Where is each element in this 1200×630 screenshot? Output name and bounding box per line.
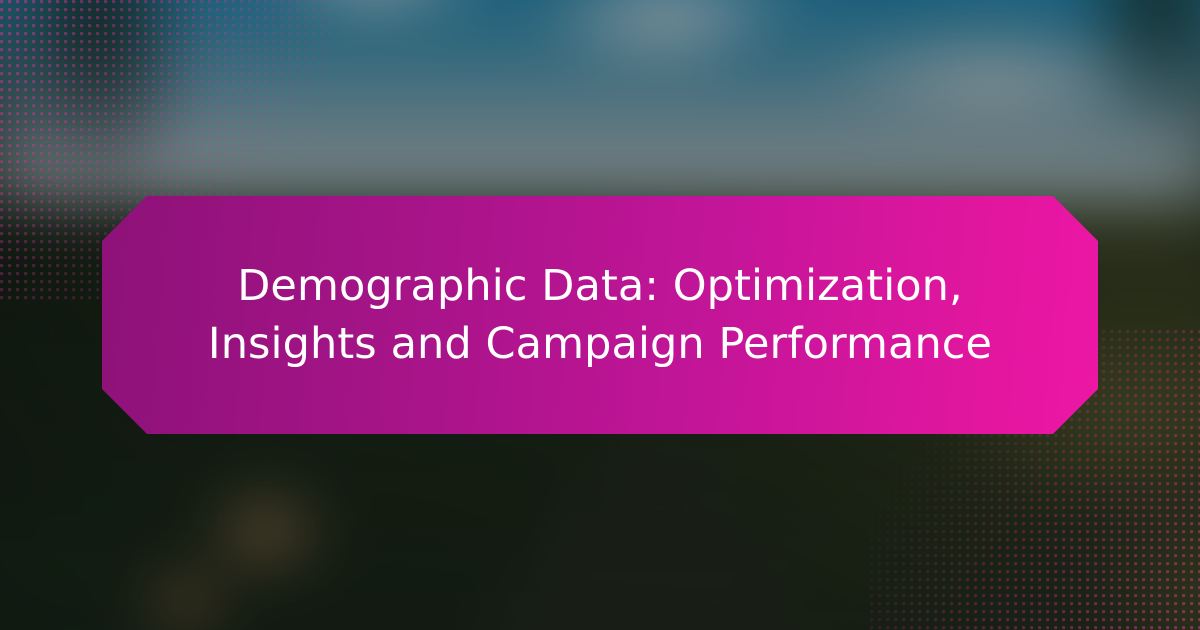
title-banner: Demographic Data: Optimization, Insights… [102, 196, 1098, 434]
page-title: Demographic Data: Optimization, Insights… [190, 257, 1010, 373]
og-image-canvas: Demographic Data: Optimization, Insights… [0, 0, 1200, 630]
